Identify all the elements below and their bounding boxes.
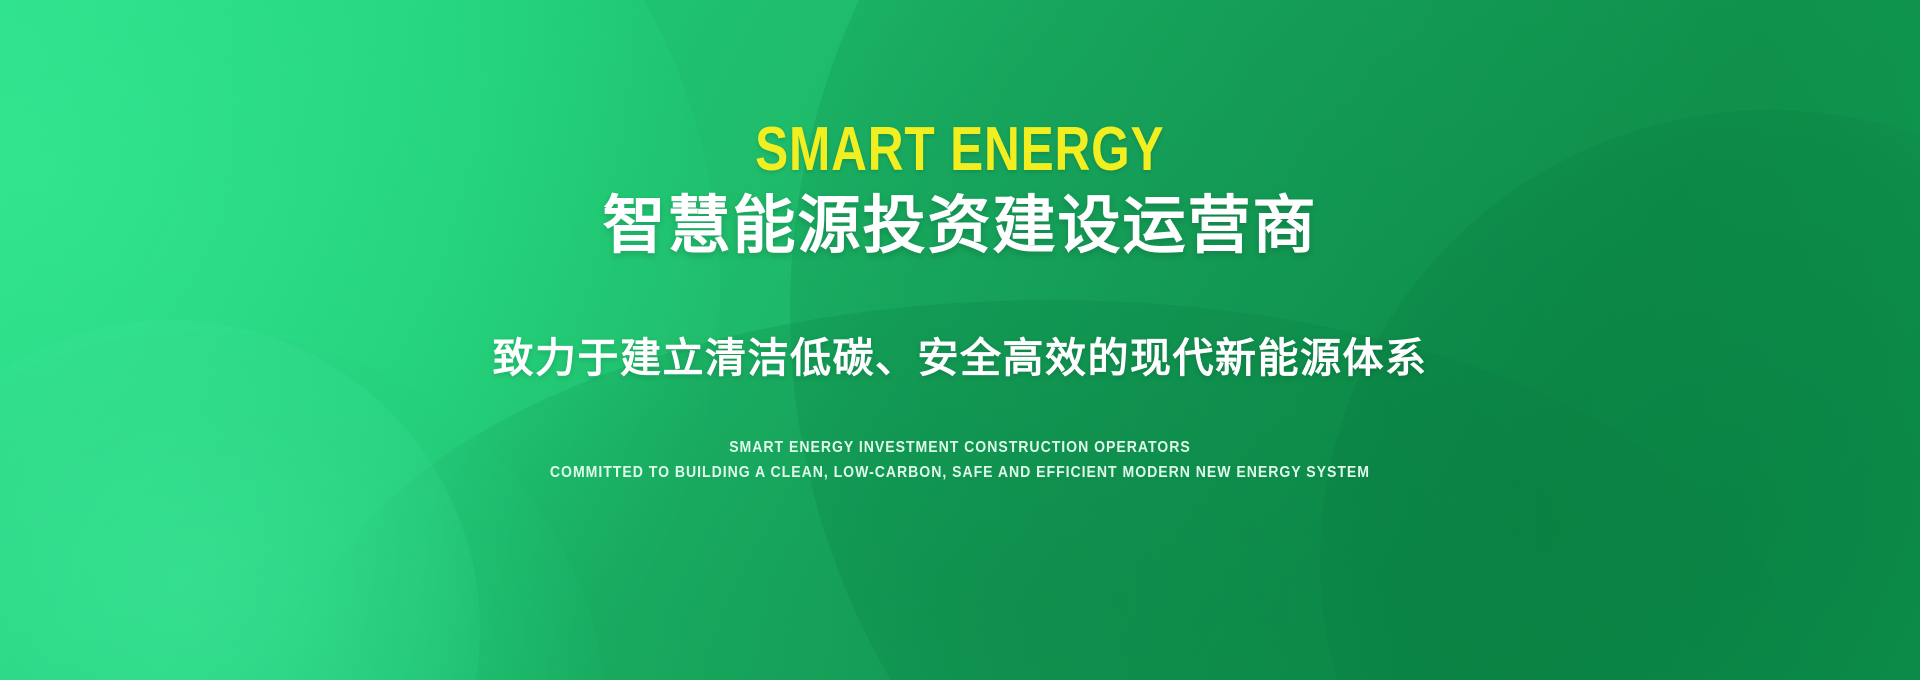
banner-english-caption-secondary: COMMITTED TO BUILDING A CLEAN, LOW-CARBO… [550,461,1370,485]
banner-subheadline: 致力于建立清洁低碳、安全高效的现代新能源体系 [493,336,1428,382]
banner-content: SMART ENERGY 智慧能源投资建设运营商 致力于建立清洁低碳、安全高效的… [0,0,1920,680]
banner-eyebrow: SMART ENERGY [755,118,1164,181]
banner-english-caption-primary: SMART ENERGY INVESTMENT CONSTRUCTION OPE… [550,436,1370,460]
hero-banner: SMART ENERGY 智慧能源投资建设运营商 致力于建立清洁低碳、安全高效的… [0,0,1920,680]
banner-english-captions: SMART ENERGY INVESTMENT CONSTRUCTION OPE… [494,436,1426,485]
banner-headline: 智慧能源投资建设运营商 [603,192,1318,260]
